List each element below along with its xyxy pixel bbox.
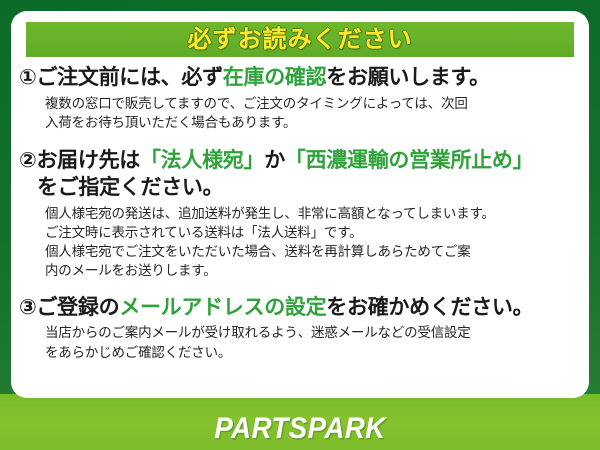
notice-banner: 必ずお読みください ①ご注文前には、必ず在庫の確認をお願いします。 複数の窓口で… (0, 0, 600, 450)
notice-item-3-detail-line2: をあらかじめご確認ください。 (45, 343, 583, 362)
notice-item-2-detail-line1: 個人様宅宛の発送は、追加送料が発生し、非常に高額となってしまいます。 (45, 206, 495, 221)
notice-item-3-detail-line1: 当店からのご案内メールが受け取れるよう、迷惑メールなどの受信設定 (45, 325, 471, 340)
notice-item-3: ③ご登録のメールアドレスの設定をお確かめください。 当店からのご案内メールが受け… (11, 295, 589, 362)
notice-item-2-detail: 個人様宅宛の発送は、追加送料が発生し、非常に高額となってしまいます。ご注文時に表… (45, 204, 583, 281)
notice-item-2-marker: ② (19, 149, 36, 172)
notice-item-2: ②お届け先は「法人様宛」か「西濃運輸の営業所止め」をご指定ください。 個人様宅宛… (11, 148, 589, 280)
notice-item-3-highlight: メールアドレスの設定 (119, 296, 326, 319)
notice-item-2-head-line2: をご指定ください。 (37, 175, 583, 202)
notice-item-1-detail: 複数の窓口で販売してますので、ご注文のタイミングによっては、次回入荷をお待ち頂い… (45, 94, 583, 132)
notice-item-2-head-before: お届け先は (36, 149, 140, 172)
notice-item-1-marker: ① (19, 66, 36, 89)
notice-item-1-detail-line1: 複数の窓口で販売してますので、ご注文のタイミングによっては、次回 (45, 96, 468, 111)
notice-item-1-head-before: ご注文前には、必ず (36, 66, 222, 89)
notice-item-2-detail-line4: 内のメールをお送りします。 (45, 261, 583, 280)
notice-item-1-heading: ①ご注文前には、必ず在庫の確認をお願いします。 (19, 65, 583, 92)
notice-item-2-highlight-2: 「西濃運輸の営業所止め」 (285, 149, 533, 172)
notice-item-3-head-before: ご登録の (36, 296, 119, 319)
notice-item-3-heading: ③ご登録のメールアドレスの設定をお確かめください。 (19, 295, 583, 322)
brand-logo: PARTSPARK (24, 414, 576, 444)
page-title: 必ずお読みください (188, 28, 413, 52)
title-bar: 必ずお読みください (26, 22, 574, 57)
notice-item-1-detail-line2: 入荷をお待ち頂いただく場合もあります。 (45, 113, 583, 132)
notice-item-1-head-after: をお願いします。 (326, 66, 490, 89)
notice-item-1: ①ご注文前には、必ず在庫の確認をお願いします。 複数の窓口で販売してますので、ご… (11, 65, 589, 132)
notice-item-2-detail-line2: ご注文時に表示されている送料は「法人送料」です。 (45, 223, 583, 242)
notice-list: ①ご注文前には、必ず在庫の確認をお願いします。 複数の窓口で販売してますので、ご… (11, 65, 589, 362)
notice-item-1-highlight: 在庫の確認 (223, 66, 327, 89)
notice-item-2-detail-line3: 個人様宅宛でご注文をいただいた場合、送料を再計算しあらためてご案 (45, 242, 583, 261)
notice-item-3-marker: ③ (19, 296, 36, 319)
notice-item-3-head-after: をお確かめください。 (326, 296, 533, 319)
notice-card: 必ずお読みください ①ご注文前には、必ず在庫の確認をお願いします。 複数の窓口で… (11, 11, 589, 398)
notice-item-2-head-middle: か (264, 149, 285, 172)
notice-item-3-detail: 当店からのご案内メールが受け取れるよう、迷惑メールなどの受信設定をあらかじめご確… (45, 323, 583, 361)
notice-item-2-heading: ②お届け先は「法人様宛」か「西濃運輸の営業所止め」をご指定ください。 (19, 148, 583, 202)
notice-item-2-highlight-1: 「法人様宛」 (140, 149, 264, 172)
